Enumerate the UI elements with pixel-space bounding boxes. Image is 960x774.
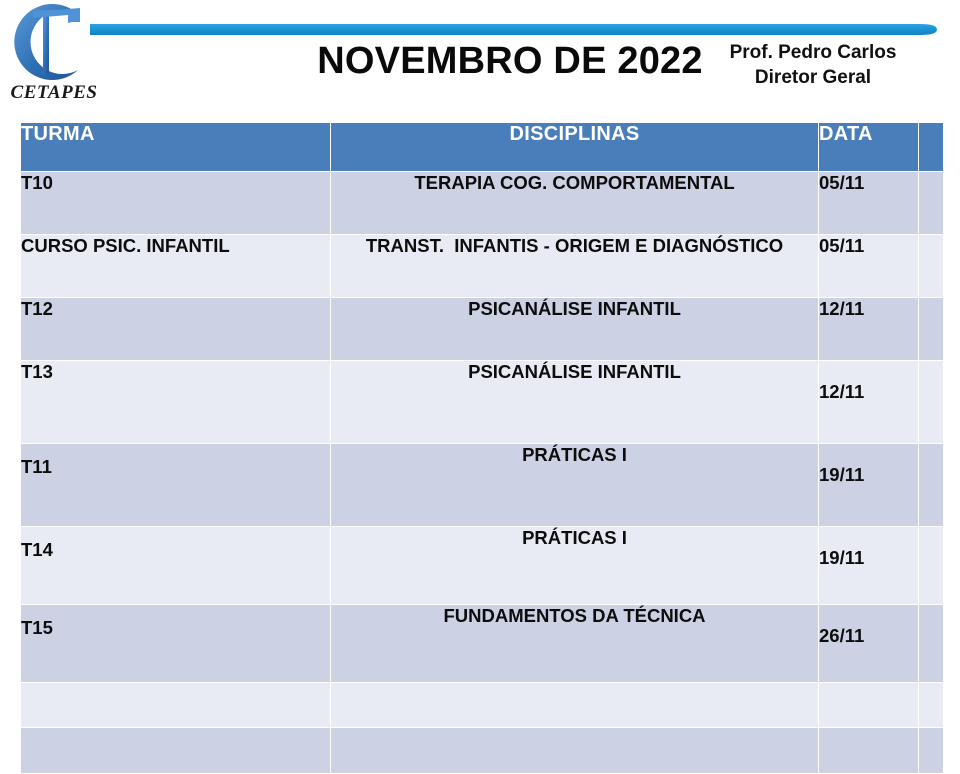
cell-turma — [21, 728, 331, 774]
cell-data: 12/11 — [819, 361, 919, 444]
cell-data: 12/11 — [819, 298, 919, 361]
table-row: T11 PRÁTICAS I 19/11 — [21, 444, 944, 527]
cell-extra — [919, 683, 944, 728]
table-row: T13 PSICANÁLISE INFANTIL 12/11 — [21, 361, 944, 444]
cell-data: 19/11 — [819, 527, 919, 605]
column-header-disciplinas: DISCIPLINAS — [331, 123, 819, 172]
cell-disciplina: FUNDAMENTOS DA TÉCNICA — [331, 605, 819, 683]
cell-data: 05/11 — [819, 235, 919, 298]
table-row: CURSO PSIC. INFANTIL TRANST. INFANTIS - … — [21, 235, 944, 298]
cell-disciplina: PRÁTICAS I — [331, 444, 819, 527]
table-row-empty — [21, 683, 944, 728]
cell-turma: T10 — [21, 172, 331, 235]
table-row-empty — [21, 728, 944, 774]
schedule-table: TURMA DISCIPLINAS DATA T10 TERAPIA COG. … — [20, 122, 944, 774]
cell-extra — [919, 235, 944, 298]
column-header-data: DATA — [819, 123, 919, 172]
cell-disciplina: PSICANÁLISE INFANTIL — [331, 298, 819, 361]
presenter-block: Prof. Pedro Carlos Diretor Geral — [698, 40, 928, 90]
cell-turma: T13 — [21, 361, 331, 444]
table-row: T10 TERAPIA COG. COMPORTAMENTAL 05/11 — [21, 172, 944, 235]
column-header-turma: TURMA — [21, 123, 331, 172]
cell-turma: CURSO PSIC. INFANTIL — [21, 235, 331, 298]
table-body: T10 TERAPIA COG. COMPORTAMENTAL 05/11 CU… — [21, 172, 944, 774]
cell-turma: T12 — [21, 298, 331, 361]
table-row: T15 FUNDAMENTOS DA TÉCNICA 26/11 — [21, 605, 944, 683]
header-accent-bar — [90, 22, 937, 33]
cell-turma: T15 — [21, 605, 331, 683]
cell-extra — [919, 361, 944, 444]
cell-data: 19/11 — [819, 444, 919, 527]
cell-extra — [919, 527, 944, 605]
cell-turma: T14 — [21, 527, 331, 605]
cell-extra — [919, 728, 944, 774]
cell-disciplina: PRÁTICAS I — [331, 527, 819, 605]
cetapes-c-monogram-icon — [2, 2, 97, 82]
cell-disciplina: TRANST. INFANTIS - ORIGEM E DIAGNÓSTICO — [331, 235, 819, 298]
cell-data — [819, 683, 919, 728]
schedule-table-wrapper: TURMA DISCIPLINAS DATA T10 TERAPIA COG. … — [20, 122, 943, 774]
cell-data: 05/11 — [819, 172, 919, 235]
cell-turma — [21, 683, 331, 728]
cell-extra — [919, 298, 944, 361]
cell-extra — [919, 444, 944, 527]
table-row: T14 PRÁTICAS I 19/11 — [21, 527, 944, 605]
cell-data — [819, 728, 919, 774]
table-row: T12 PSICANÁLISE INFANTIL 12/11 — [21, 298, 944, 361]
cell-disciplina: PSICANÁLISE INFANTIL — [331, 361, 819, 444]
page-title: NOVEMBRO DE 2022 — [300, 40, 720, 83]
cell-extra — [919, 605, 944, 683]
table-header: TURMA DISCIPLINAS DATA — [21, 123, 944, 172]
cell-disciplina — [331, 683, 819, 728]
cell-disciplina: TERAPIA COG. COMPORTAMENTAL — [331, 172, 819, 235]
slide-header: CETAPES NOVEMBRO DE 2022 Prof. Pedro Car… — [0, 0, 960, 118]
table-header-row: TURMA DISCIPLINAS DATA — [21, 123, 944, 172]
presenter-name: Prof. Pedro Carlos — [698, 40, 928, 65]
cell-turma: T11 — [21, 444, 331, 527]
cetapes-logo: CETAPES — [2, 2, 102, 112]
cell-extra — [919, 172, 944, 235]
cell-data: 26/11 — [819, 605, 919, 683]
column-header-extra — [919, 123, 944, 172]
cell-disciplina — [331, 728, 819, 774]
logo-wordmark: CETAPES — [8, 82, 100, 104]
presenter-role: Diretor Geral — [698, 65, 928, 90]
